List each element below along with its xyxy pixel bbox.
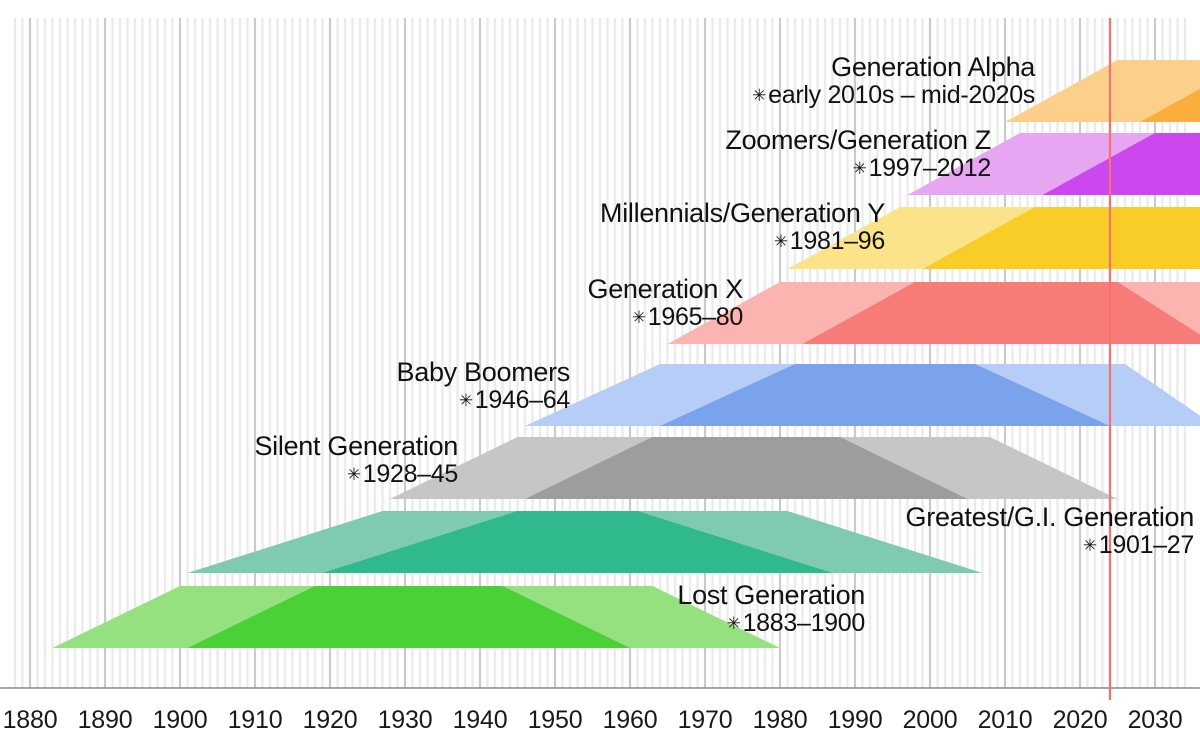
asterisk-icon: ✳ [727, 614, 743, 633]
asterisk-icon: ✳ [347, 465, 363, 484]
label-generation-alpha: Generation Alpha ✳early 2010s – mid-2020… [752, 53, 1035, 108]
x-tick-1910: 1910 [228, 706, 283, 735]
label-greatest-generation-name: Greatest/G.I. Generation [906, 503, 1194, 532]
x-tick-2030: 2030 [1128, 706, 1183, 735]
label-baby-boomers: Baby Boomers ✳1946–64 [397, 358, 570, 413]
label-generation-alpha-years: ✳early 2010s – mid-2020s [752, 82, 1035, 109]
label-generation-z-name: Zoomers/Generation Z [725, 126, 991, 155]
x-tick-1980: 1980 [753, 706, 808, 735]
label-baby-boomers-years: ✳1946–64 [397, 387, 570, 414]
x-tick-1950: 1950 [528, 706, 583, 735]
x-tick-1960: 1960 [603, 706, 658, 735]
x-tick-1940: 1940 [453, 706, 508, 735]
label-generation-x-name: Generation X [588, 275, 744, 304]
label-greatest-generation-years: ✳1901–27 [906, 532, 1194, 559]
label-generation-z: Zoomers/Generation Z ✳1997–2012 [725, 126, 991, 181]
label-lost-generation: Lost Generation ✳1883–1900 [677, 581, 865, 636]
label-millennials-name: Millennials/Generation Y [600, 199, 885, 228]
asterisk-icon: ✳ [1083, 536, 1099, 555]
plot-area [0, 0, 1200, 750]
x-tick-1880: 1880 [3, 706, 58, 735]
x-tick-1970: 1970 [678, 706, 733, 735]
asterisk-icon: ✳ [853, 159, 869, 178]
label-millennials-years: ✳1981–96 [600, 228, 885, 255]
x-tick-1990: 1990 [828, 706, 883, 735]
x-tick-2000: 2000 [903, 706, 958, 735]
label-greatest-generation: Greatest/G.I. Generation ✳1901–27 [906, 503, 1194, 558]
label-generation-z-years: ✳1997–2012 [725, 155, 991, 182]
generations-timeline-chart: 1880 1890 1900 1910 1920 1930 1940 1950 … [0, 0, 1200, 750]
label-millennials: Millennials/Generation Y ✳1981–96 [600, 199, 885, 254]
asterisk-icon: ✳ [459, 391, 475, 410]
label-baby-boomers-name: Baby Boomers [397, 358, 570, 387]
label-silent-generation-name: Silent Generation [254, 432, 458, 461]
asterisk-icon: ✳ [774, 232, 790, 251]
x-tick-1920: 1920 [303, 706, 358, 735]
x-tick-1890: 1890 [78, 706, 133, 735]
x-tick-2010: 2010 [978, 706, 1033, 735]
x-tick-1900: 1900 [153, 706, 208, 735]
asterisk-icon: ✳ [752, 86, 768, 105]
label-generation-x-years: ✳1965–80 [588, 304, 744, 331]
label-lost-generation-name: Lost Generation [677, 581, 865, 610]
asterisk-icon: ✳ [632, 308, 648, 327]
x-tick-1930: 1930 [378, 706, 433, 735]
label-generation-x: Generation X ✳1965–80 [588, 275, 744, 330]
label-generation-alpha-name: Generation Alpha [752, 53, 1035, 82]
label-silent-generation-years: ✳1928–45 [254, 461, 458, 488]
x-tick-2020: 2020 [1053, 706, 1108, 735]
label-silent-generation: Silent Generation ✳1928–45 [254, 432, 458, 487]
label-lost-generation-years: ✳1883–1900 [677, 610, 865, 637]
